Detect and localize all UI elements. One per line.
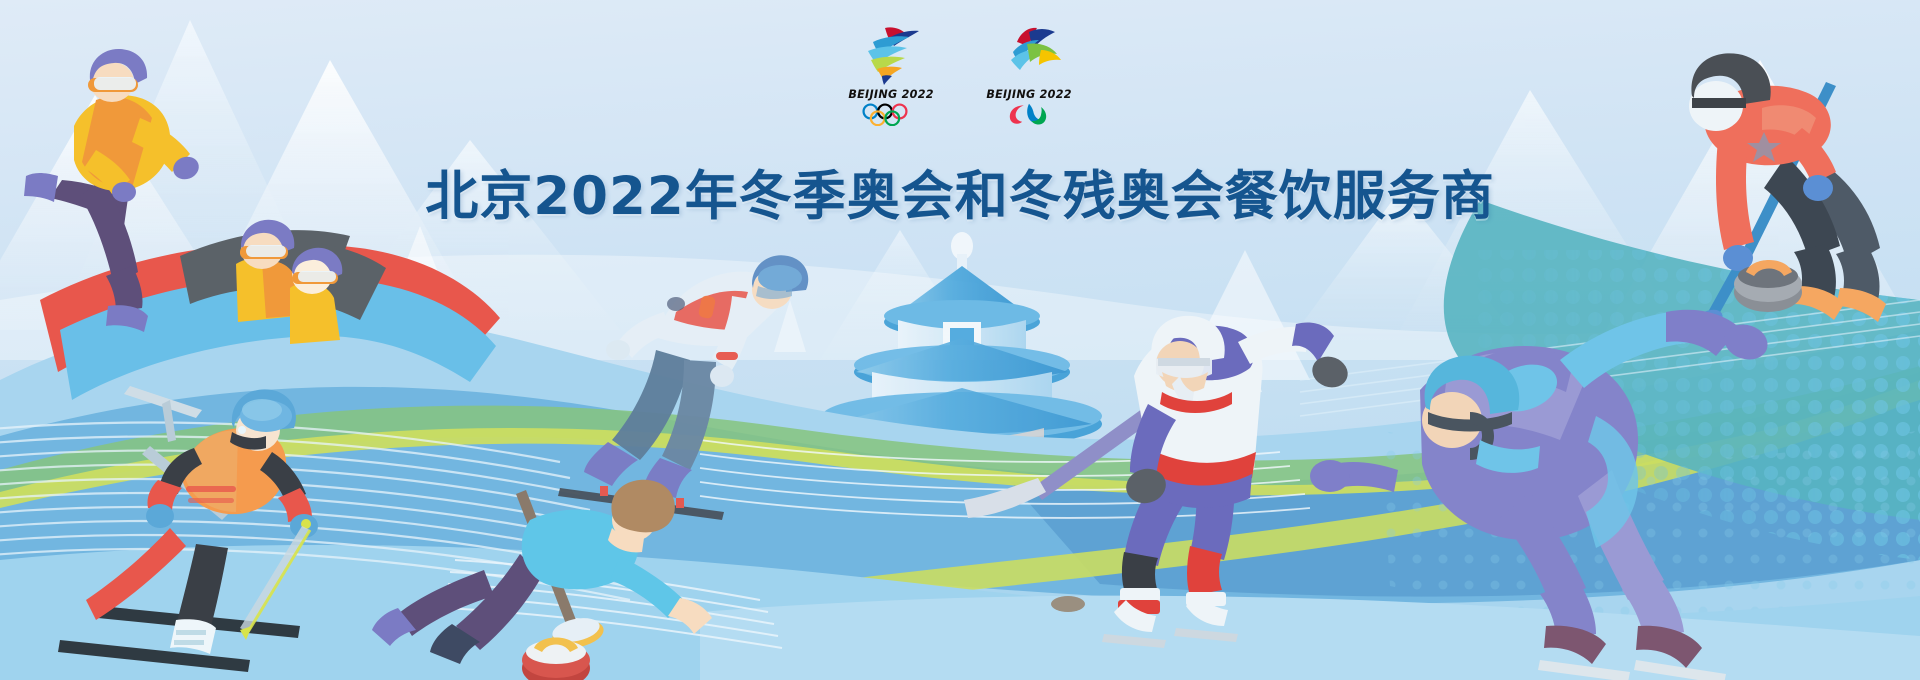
paralympic-agitos-icon — [999, 103, 1059, 125]
emblem-row: BEIJING 2022 — [0, 24, 1920, 125]
beijing-2022-paralympic-emblem-icon — [987, 24, 1071, 86]
page-title: 北京2022年冬季奥会和冬残奥会餐饮服务商 — [0, 154, 1920, 230]
beijing-2022-paralympic-emblem: BEIJING 2022 — [980, 24, 1078, 125]
bobsled-athlete-rear — [262, 245, 274, 259]
paralympic-wordmark: BEIJING 2022 — [986, 87, 1071, 101]
olympics-catering-banner: BEIJING 2022 — [0, 0, 1920, 680]
olympic-wordmark: BEIJING 2022 — [848, 87, 933, 101]
banner-header: BEIJING 2022 — [0, 0, 1920, 200]
olympic-rings-icon — [854, 103, 928, 125]
beijing-2022-olympic-emblem-icon — [849, 24, 933, 86]
beijing-2022-olympic-emblem: BEIJING 2022 — [842, 24, 940, 125]
